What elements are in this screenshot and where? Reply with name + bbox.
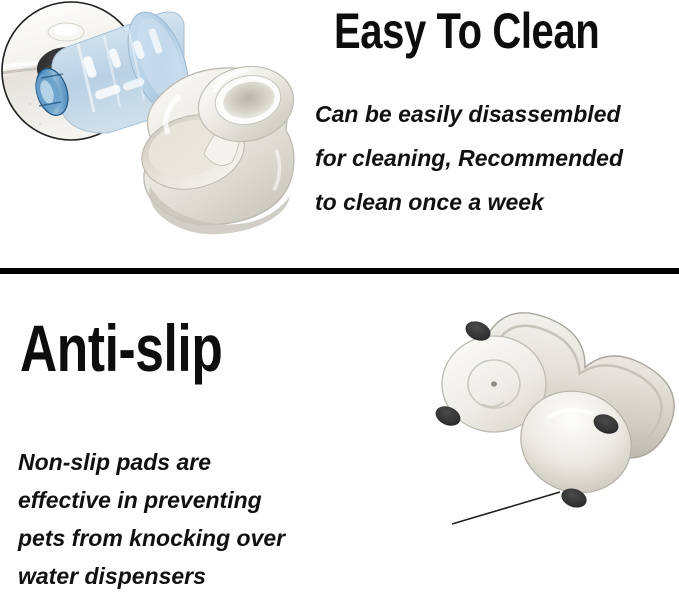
section-divider: [0, 268, 679, 274]
section-description-anti-slip: Non-slip pads are effective in preventin…: [18, 443, 285, 595]
description-line: effective in preventing: [18, 481, 285, 519]
description-line: Non-slip pads are: [18, 443, 285, 481]
description-line: water dispensers: [18, 557, 285, 595]
product-photo-underside: [398, 306, 679, 541]
description-line: for cleaning, Recommended: [315, 136, 623, 180]
section-description-easy-to-clean: Can be easily disassembled for cleaning,…: [315, 92, 623, 224]
section-title-easy-to-clean: Easy To Clean: [334, 2, 599, 60]
product-photo-disassembled: [8, 0, 308, 258]
description-line: Can be easily disassembled: [315, 92, 623, 136]
infographic-page: Easy To Clean Can be easily disassembled…: [0, 0, 679, 601]
description-line: pets from knocking over: [18, 519, 285, 557]
section-title-anti-slip: Anti-slip: [20, 310, 222, 386]
description-line: to clean once a week: [315, 180, 623, 224]
